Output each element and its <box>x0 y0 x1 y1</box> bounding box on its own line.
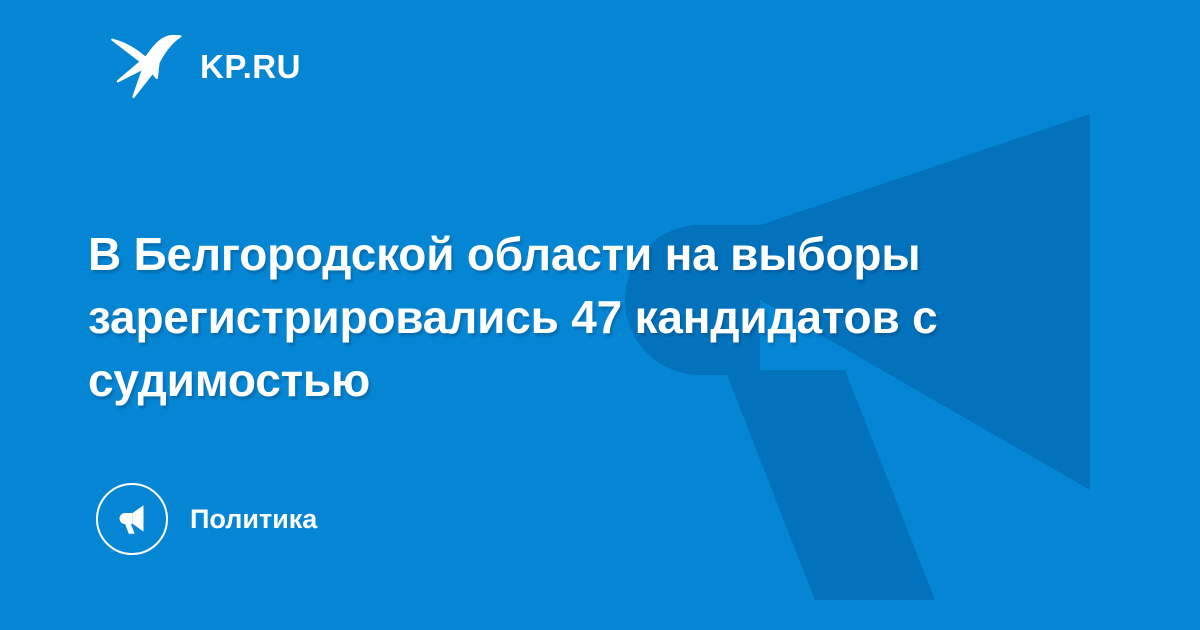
category-badge[interactable]: Политика <box>96 483 317 555</box>
brand-logo[interactable]: KP.RU <box>108 36 301 96</box>
headline: В Белгородской области на выборы зарегис… <box>88 223 1108 412</box>
megaphone-icon <box>113 500 151 538</box>
category-icon-circle <box>96 483 168 555</box>
brand-name: KP.RU <box>200 50 301 83</box>
category-label: Политика <box>190 506 317 533</box>
swallow-bird-icon <box>108 33 182 99</box>
share-card: KP.RU В Белгородской области на выборы з… <box>0 0 1200 630</box>
